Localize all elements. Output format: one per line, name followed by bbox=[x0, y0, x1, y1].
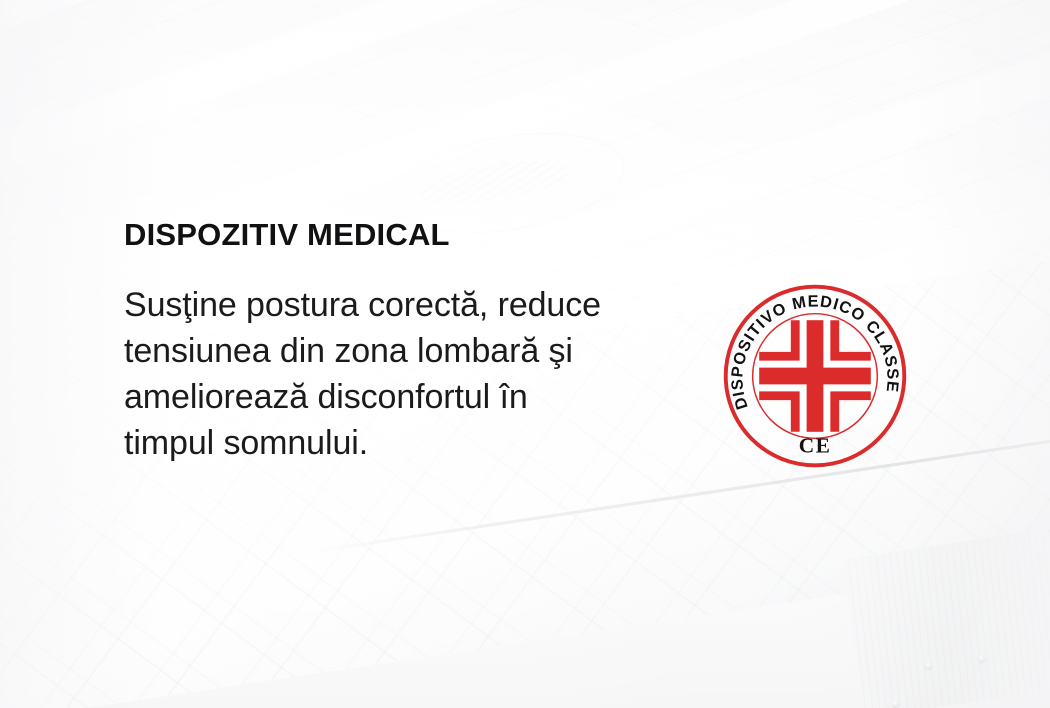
body-line: timpul somnului. bbox=[124, 420, 724, 466]
medical-cross-icon bbox=[759, 320, 871, 432]
quilt-tuft-button bbox=[925, 662, 932, 669]
body-line: ameliorează disconfortul în bbox=[124, 374, 724, 420]
body-line: Susţine postura corectă, reduce bbox=[124, 282, 724, 328]
ce-mark-label: CE bbox=[799, 433, 831, 457]
body-line: tensiunea din zona lombară şi bbox=[124, 328, 724, 374]
quilt-tuft-button bbox=[892, 700, 899, 707]
cross-horizontal-core bbox=[759, 368, 871, 385]
quilt-tuft-button bbox=[978, 655, 985, 662]
body-description: Susţine postura corectă, reduce tensiune… bbox=[124, 252, 724, 466]
page-title: DISPOZITIV MEDICAL bbox=[124, 218, 724, 252]
medical-device-badge: DISPOSITIVO MEDICO CLASSE 1 CE bbox=[722, 283, 908, 469]
copy-block: DISPOZITIV MEDICAL Susţine postura corec… bbox=[124, 218, 724, 466]
medical-device-seal-icon: DISPOSITIVO MEDICO CLASSE 1 CE bbox=[722, 283, 908, 469]
promo-banner: DISPOZITIV MEDICAL Susţine postura corec… bbox=[0, 0, 1050, 708]
